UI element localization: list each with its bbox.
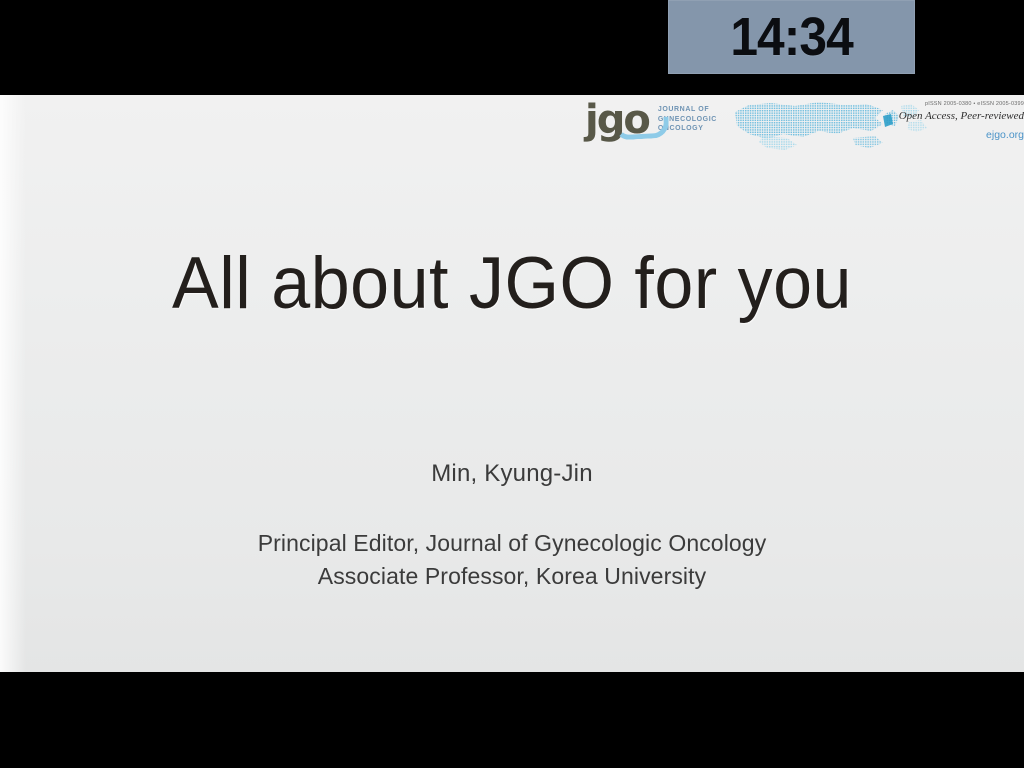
open-access-label: Open Access, Peer-reviewed (892, 109, 1024, 123)
jgo-logo: jgo JOURNAL OF GYNECOLOGIC ONCOLOGY (585, 98, 717, 140)
presentation-slide: jgo JOURNAL OF GYNECOLOGIC ONCOLOGY (0, 95, 1024, 672)
journal-meta: pISSN 2005-0380 • eISSN 2005-0399 Open A… (892, 100, 1024, 142)
author-affiliation: Principal Editor, Journal of Gynecologic… (0, 527, 1024, 593)
affiliation-line-1: Principal Editor, Journal of Gynecologic… (0, 527, 1024, 560)
clock-time: 14:34 (730, 10, 852, 64)
journal-header: jgo JOURNAL OF GYNECOLOGIC ONCOLOGY (585, 98, 1024, 150)
journal-website-link[interactable]: ejgo.org (892, 128, 1024, 142)
slide-title: All about JGO for you (20, 247, 1003, 320)
screen: 14:34 jgo JOURNAL OF GYNECOLOGIC ONCOLOG… (0, 0, 1024, 768)
author-name: Min, Kyung-Jin (0, 460, 1024, 488)
issn-line: pISSN 2005-0380 • eISSN 2005-0399 (892, 100, 1024, 108)
affiliation-line-2: Associate Professor, Korea University (0, 560, 1024, 593)
clock-overlay: 14:34 (668, 0, 915, 74)
jgo-swoosh-icon (614, 117, 669, 141)
jgo-subtitle-line-1: JOURNAL OF (658, 105, 717, 115)
